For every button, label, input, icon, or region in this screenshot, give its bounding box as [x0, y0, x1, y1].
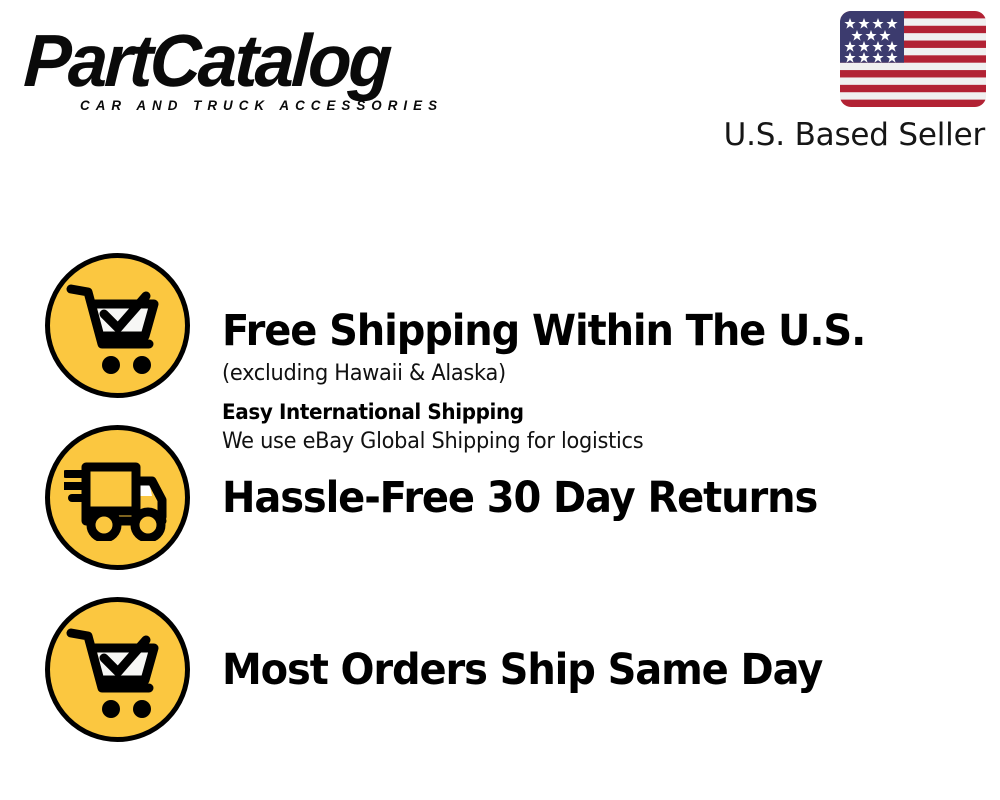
feature-list: Free Shipping Within The U.S. (excluding… [0, 175, 1000, 800]
feature-heading: Most Orders Ship Same Day [222, 644, 822, 696]
brand-logo[interactable]: PartCatalog CAR AND TRUCK ACCESSORIES [26, 24, 496, 114]
header: PartCatalog CAR AND TRUCK ACCESSORIES [0, 0, 1000, 175]
feature-row: Hassle-Free 30 Day Returns [0, 422, 1000, 594]
delivery-truck-icon [45, 425, 190, 570]
brand-tagline: CAR AND TRUCK ACCESSORIES [80, 98, 443, 113]
feature-subtext-exclusion: (excluding Hawaii & Alaska) [222, 359, 954, 389]
shopping-cart-check-icon [45, 597, 190, 742]
us-flag-icon [840, 11, 986, 107]
feature-text: Most Orders Ship Same Day [222, 594, 992, 746]
us-based-seller-label: U.S. Based Seller [724, 117, 985, 153]
shopping-cart-check-icon [45, 253, 190, 398]
feature-row: Free Shipping Within The U.S. (excluding… [0, 250, 1000, 422]
feature-text: Hassle-Free 30 Day Returns [222, 422, 992, 574]
feature-heading: Hassle-Free 30 Day Returns [222, 472, 817, 524]
feature-row: Most Orders Ship Same Day [0, 594, 1000, 766]
brand-wordmark: PartCatalog [22, 24, 477, 98]
feature-heading: Free Shipping Within The U.S. [222, 305, 938, 357]
